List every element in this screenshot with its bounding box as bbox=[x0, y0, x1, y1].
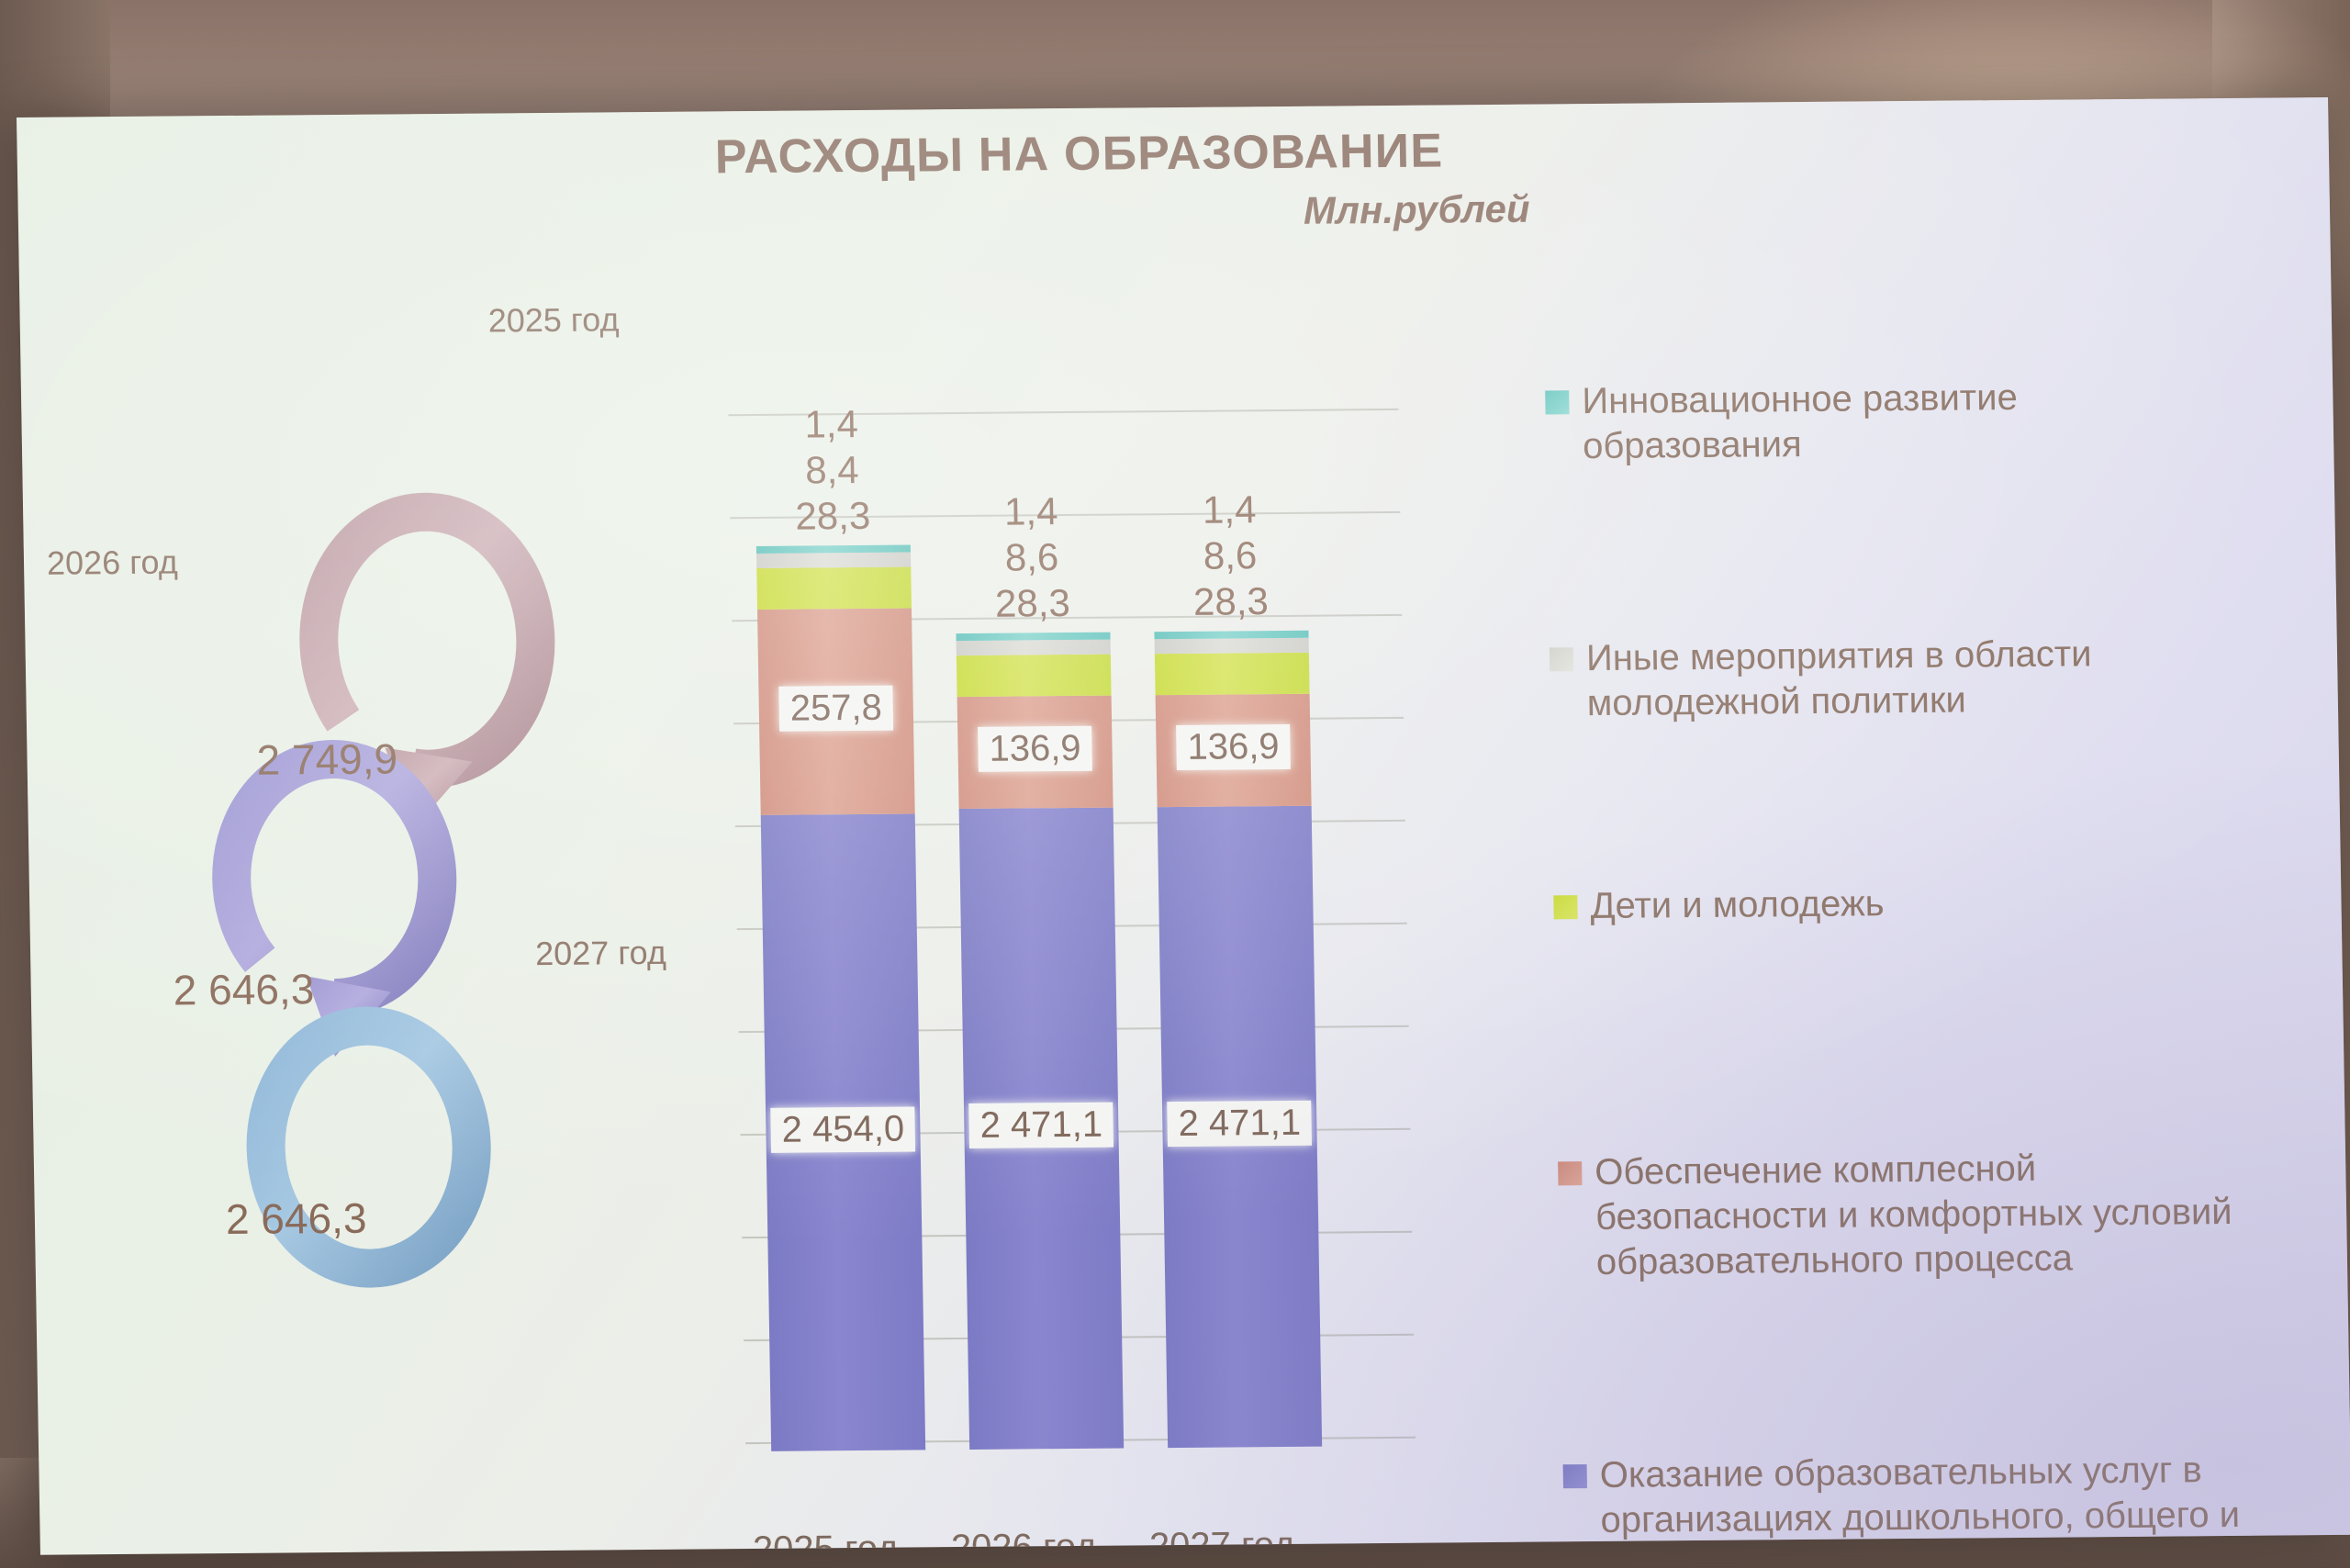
bar-segment-safe[interactable]: 136,9 bbox=[957, 696, 1113, 809]
bar-segment-youth[interactable] bbox=[1155, 653, 1310, 695]
cycle-year-label-2026: 2026 год bbox=[47, 543, 178, 582]
cycle-value-2025: 2 749,9 bbox=[256, 734, 397, 784]
legend-swatch-icon bbox=[1550, 647, 1573, 671]
legend-label: Дети и молодежь bbox=[1590, 881, 1885, 929]
legend-label: Иные мероприятия в области молодежной по… bbox=[1586, 631, 2249, 726]
bar-segment-edu[interactable]: 2 471,1 bbox=[959, 808, 1125, 1450]
bar-segment-innov[interactable] bbox=[1154, 631, 1308, 639]
legend-item-2[interactable]: Дети и молодежь bbox=[1553, 880, 2031, 929]
legend-item-3[interactable]: Обеспечение комплесной безопасности и ко… bbox=[1558, 1145, 2257, 1285]
cycle-value-2027: 2 646,3 bbox=[225, 1193, 366, 1244]
units-subtitle: Млн.рублей bbox=[1303, 187, 1529, 233]
legend-item-1[interactable]: Иные мероприятия в области молодежной по… bbox=[1550, 631, 2249, 726]
legend-swatch-icon bbox=[1558, 1161, 1582, 1185]
cycle-year-label-2027: 2027 год bbox=[535, 934, 666, 973]
bar-segment-innov[interactable] bbox=[756, 545, 911, 554]
segment-value-label-youth: 28,3 bbox=[995, 581, 1071, 626]
segment-value-label: 2 471,1 bbox=[968, 1103, 1113, 1148]
projection-room: РАСХОДЫ НА ОБРАЗОВАНИЕ Млн.рублей bbox=[0, 0, 2350, 1568]
slide: РАСХОДЫ НА ОБРАЗОВАНИЕ Млн.рублей bbox=[17, 97, 2350, 1555]
bar-stack: 2 454,0257,8 bbox=[756, 545, 925, 1451]
cycle-year-label-2025: 2025 год bbox=[487, 300, 619, 340]
chart-legend: Инновационное развитие образованияИные м… bbox=[1545, 373, 2316, 379]
segment-value-label-other: 8,4 bbox=[805, 448, 859, 493]
bar-2025-год[interactable]: 2 454,0257,828,38,41,4 bbox=[756, 545, 925, 1451]
bar-segment-youth[interactable] bbox=[756, 567, 912, 610]
page-title: РАСХОДЫ НА ОБРАЗОВАНИЕ bbox=[714, 123, 1443, 185]
bar-2027-год[interactable]: 2 471,1136,928,38,61,4 bbox=[1154, 631, 1322, 1448]
legend-label: Обеспечение комплесной безопасности и ко… bbox=[1595, 1145, 2257, 1285]
segment-value-label: 2 471,1 bbox=[1167, 1101, 1312, 1147]
segment-value-label-other: 8,6 bbox=[1203, 533, 1258, 578]
stacked-bar-chart: 2 454,0257,828,38,41,42 471,1136,928,38,… bbox=[728, 409, 1416, 1516]
segment-value-label-innov: 1,4 bbox=[1004, 489, 1058, 534]
bar-stack: 2 471,1136,9 bbox=[1154, 631, 1322, 1448]
segment-value-label: 2 454,0 bbox=[770, 1106, 915, 1152]
bar-2026-год[interactable]: 2 471,1136,928,38,61,4 bbox=[956, 633, 1124, 1450]
bar-segment-safe[interactable]: 136,9 bbox=[1156, 694, 1312, 807]
cycle-value-2026: 2 646,3 bbox=[173, 964, 314, 1014]
bar-segment-edu[interactable]: 2 454,0 bbox=[761, 813, 925, 1450]
segment-value-label-innov: 1,4 bbox=[804, 402, 858, 447]
legend-label: Инновационное развитие образования bbox=[1582, 374, 2208, 469]
legend-swatch-icon bbox=[1545, 390, 1569, 414]
segment-value-label: 136,9 bbox=[978, 726, 1092, 772]
bar-segment-other[interactable] bbox=[957, 640, 1111, 655]
legend-swatch-icon bbox=[1563, 1464, 1587, 1488]
segment-value-label-other: 8,6 bbox=[1005, 535, 1059, 580]
cycle-arrows-svg bbox=[48, 314, 707, 1329]
bar-segment-youth[interactable] bbox=[957, 655, 1112, 697]
bar-segment-innov[interactable] bbox=[956, 633, 1110, 641]
bar-stack: 2 471,1136,9 bbox=[956, 633, 1124, 1450]
segment-value-label: 136,9 bbox=[1176, 724, 1291, 770]
bar-segment-other[interactable] bbox=[1155, 638, 1309, 654]
bar-segment-other[interactable] bbox=[756, 553, 911, 568]
cycle-diagram: 2025 год 2 749,9 2026 год 2 646,3 2027 г… bbox=[48, 314, 707, 1329]
bar-segment-safe[interactable]: 257,8 bbox=[757, 608, 915, 814]
segment-value-label-innov: 1,4 bbox=[1203, 487, 1257, 532]
segment-value-label-youth: 28,3 bbox=[1193, 579, 1270, 624]
legend-swatch-icon bbox=[1553, 895, 1577, 919]
segment-value-label: 257,8 bbox=[778, 686, 893, 732]
legend-item-0[interactable]: Инновационное развитие образования bbox=[1545, 374, 2208, 469]
projection-screen: РАСХОДЫ НА ОБРАЗОВАНИЕ Млн.рублей bbox=[17, 97, 2350, 1555]
bar-segment-edu[interactable]: 2 471,1 bbox=[1158, 806, 1323, 1448]
segment-value-label-youth: 28,3 bbox=[795, 494, 871, 539]
